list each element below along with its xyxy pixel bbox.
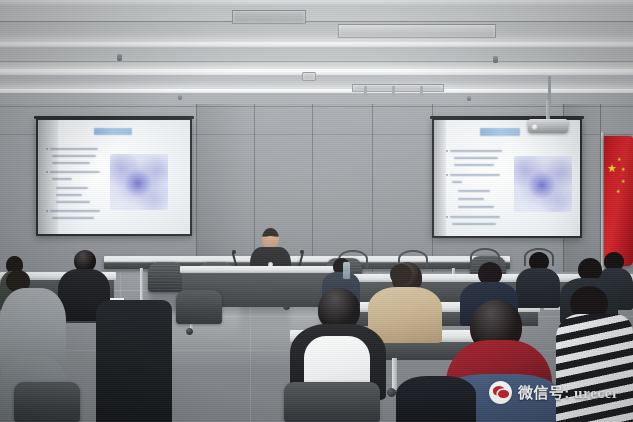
presenter-table-top (180, 266, 344, 273)
flag-star-small: ★ (621, 180, 625, 185)
flag-star-small: ★ (617, 158, 621, 163)
left-projection-screen (36, 118, 192, 236)
rolling-chair (284, 382, 380, 422)
rolling-chair (14, 382, 80, 422)
attendee-tan-jacket (386, 264, 428, 314)
ceiling-hanger (364, 86, 367, 96)
ceiling-vent (338, 24, 496, 38)
sprinkler-head (117, 54, 122, 61)
microphone-head (232, 250, 236, 254)
flag-star-large: ★ (607, 164, 617, 175)
rolling-chair (148, 262, 184, 292)
ceiling (0, 0, 633, 112)
attendee-black-coat (96, 300, 172, 422)
projector-lens-icon (531, 123, 538, 130)
attendee-white-vest (290, 288, 386, 396)
attendee-torso (396, 376, 476, 422)
projector-mount (546, 100, 550, 120)
ceiling-hanger (420, 86, 423, 96)
right-projection-screen (432, 118, 582, 238)
ceiling-hanger (392, 86, 395, 96)
photo-scene: ★ ★ ★ ★ ★ (0, 0, 633, 422)
smoke-detector (302, 72, 316, 81)
microphone-head (300, 250, 304, 254)
flag-star-small: ★ (621, 168, 625, 173)
attendee-shirt (556, 314, 633, 422)
left-screen-housing (34, 116, 194, 119)
water-bottle (343, 262, 350, 279)
attendee-dark-right (396, 376, 476, 422)
flag-star-small: ★ (616, 190, 620, 195)
chinese-national-flag: ★ ★ ★ ★ ★ (604, 136, 633, 266)
rolling-chair (176, 290, 222, 324)
ceiling-vent (232, 10, 306, 24)
attendee-dark-right (516, 252, 560, 304)
attendee-gray-hoodie (0, 270, 66, 370)
attendee-torso (96, 300, 172, 422)
attendee-head (390, 264, 412, 284)
sprinkler-head (493, 56, 498, 63)
sprinkler-head (467, 96, 471, 101)
attendee-striped-shirt (556, 286, 633, 422)
sprinkler-head (178, 95, 182, 100)
